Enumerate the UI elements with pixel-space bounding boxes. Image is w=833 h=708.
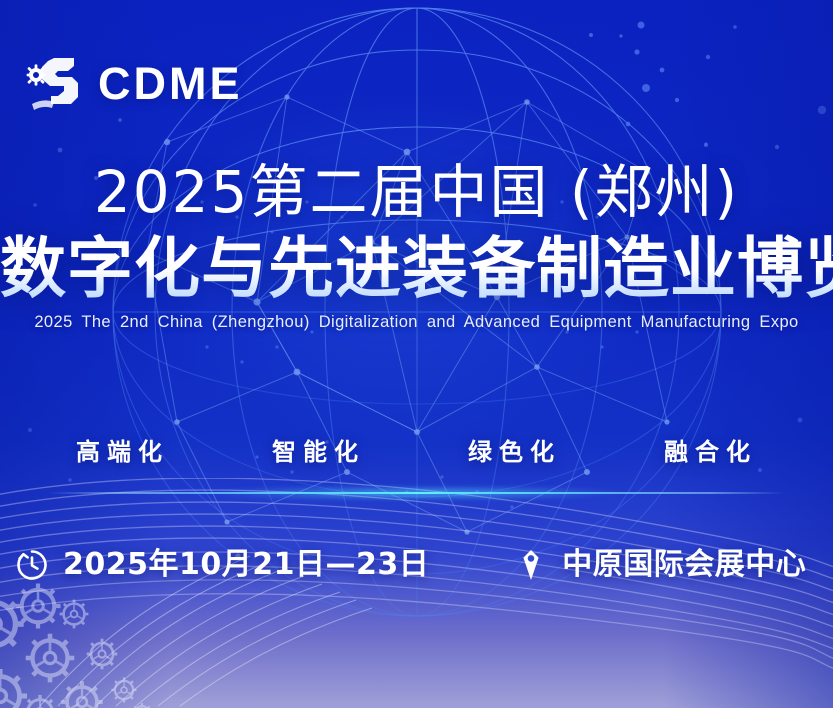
keyword-item: 智能化 [221, 440, 417, 464]
title-block: 2025第二届中国 (郑州) 数字化与先进装备制造业博览会 2025 The 2… [0, 160, 833, 333]
cdme-gear-s-logo-icon [24, 52, 84, 114]
title-line-2: 数字化与先进装备制造业博览会 [0, 233, 833, 304]
event-venue: 中原国际会展中心 [513, 547, 806, 583]
expo-poster: CDME 2025第二届中国 (郑州) 数字化与先进装备制造业博览会 2025 … [0, 0, 833, 708]
location-pin-icon [513, 547, 549, 583]
title-line-1: 2025第二届中国 (郑州) [0, 160, 833, 225]
keyword-item: 高端化 [25, 440, 221, 464]
info-bar: 2025年10月21日—23日 中原国际会展中心 [0, 533, 833, 597]
brand-wordmark: CDME [98, 61, 243, 106]
clock-icon [14, 547, 50, 583]
event-date-text: 2025年10月21日—23日 [63, 550, 429, 580]
brand-logo[interactable]: CDME [24, 52, 243, 114]
title-english-subtitle: 2025 The 2nd China (Zhengzhou) Digitaliz… [0, 313, 833, 333]
keyword-list: 高端化 智能化 绿色化 融合化 [0, 440, 833, 464]
event-date: 2025年10月21日—23日 [14, 547, 429, 583]
event-venue-text: 中原国际会展中心 [562, 550, 806, 580]
keyword-item: 绿色化 [417, 440, 613, 464]
keyword-item: 融合化 [613, 440, 809, 464]
divider-line [48, 492, 785, 494]
divider [0, 487, 833, 499]
